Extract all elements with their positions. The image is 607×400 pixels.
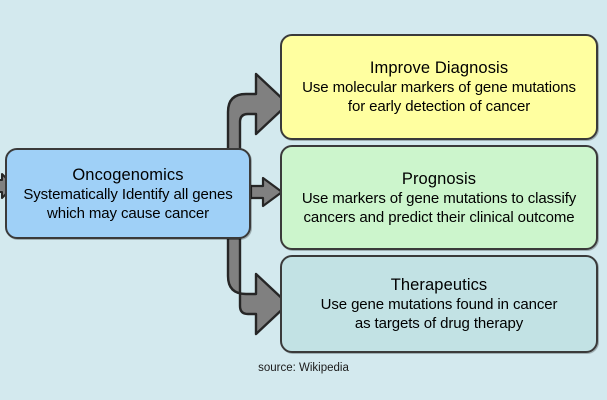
node-prognosis-title: Prognosis: [402, 169, 476, 189]
node-improve-diagnosis-desc-line2: for early detection of cancer: [348, 97, 530, 116]
arrow-to-therapeutics: [228, 238, 288, 334]
node-prognosis-desc-line1: Use markers of gene mutations to classif…: [302, 189, 576, 208]
node-improve-diagnosis-title: Improve Diagnosis: [370, 58, 508, 78]
node-improve-diagnosis[interactable]: Improve Diagnosis Use molecular markers …: [280, 34, 598, 140]
arrow-to-improve-diagnosis: [228, 74, 288, 150]
diagram-canvas: Oncogenomics Systematically Identify all…: [0, 0, 607, 400]
node-oncogenomics-desc-line2: which may cause cancer: [47, 204, 209, 223]
node-prognosis-desc-line2: cancers and predict their clinical outco…: [304, 208, 575, 227]
node-oncogenomics[interactable]: Oncogenomics Systematically Identify all…: [5, 148, 251, 239]
node-therapeutics-desc-line1: Use gene mutations found in cancer: [321, 295, 558, 314]
node-therapeutics-desc-line2: as targets of drug therapy: [355, 314, 523, 333]
node-therapeutics-title: Therapeutics: [391, 275, 488, 295]
source-caption: source: Wikipedia: [0, 362, 607, 374]
node-oncogenomics-desc-line1: Systematically Identify all genes: [23, 185, 232, 204]
node-therapeutics[interactable]: Therapeutics Use gene mutations found in…: [280, 255, 598, 353]
node-oncogenomics-title: Oncogenomics: [72, 165, 183, 185]
node-improve-diagnosis-desc-line1: Use molecular markers of gene mutations: [302, 78, 576, 97]
arrow-to-prognosis: [251, 178, 282, 206]
node-prognosis[interactable]: Prognosis Use markers of gene mutations …: [280, 145, 598, 250]
